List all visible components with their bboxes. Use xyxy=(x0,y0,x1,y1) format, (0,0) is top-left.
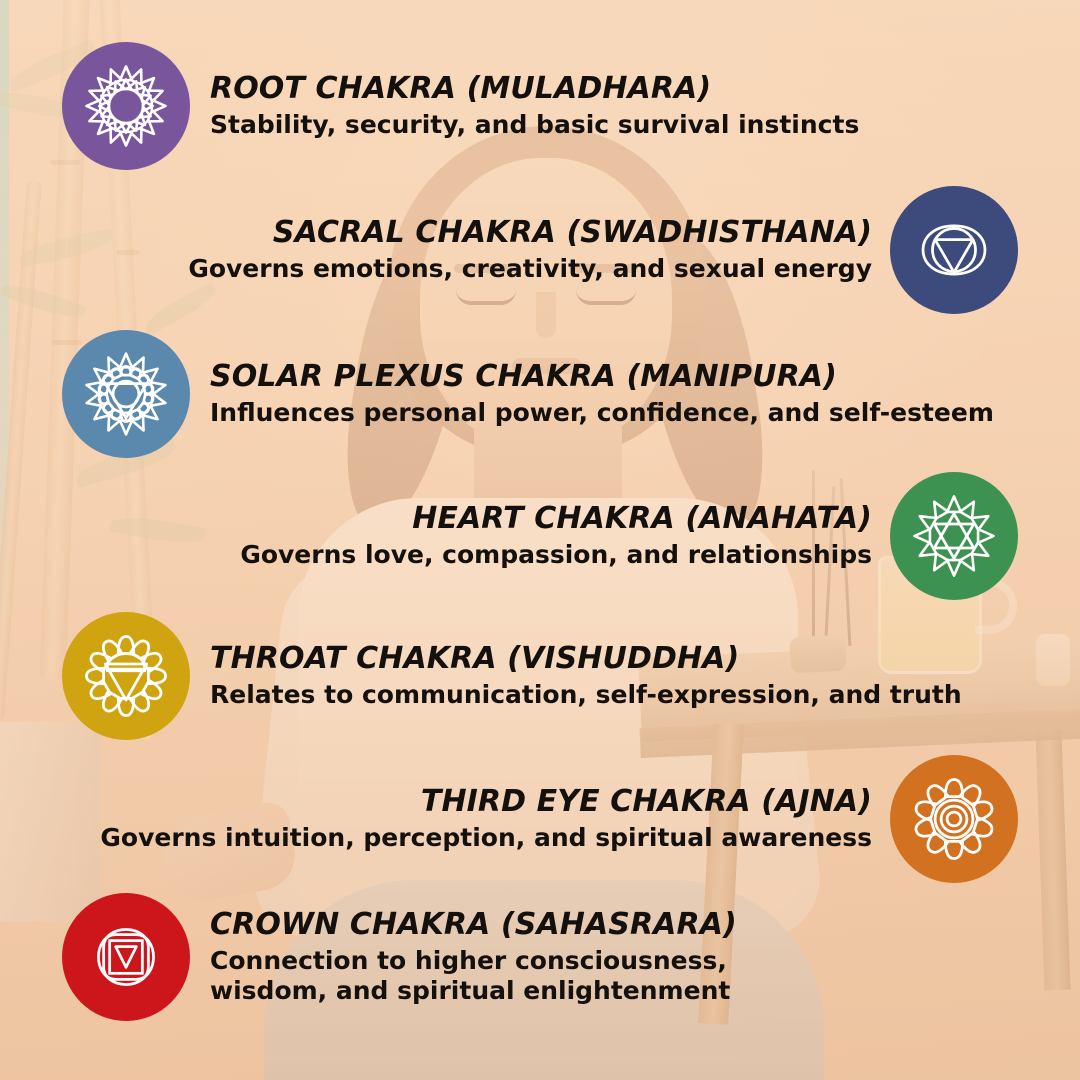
hexagram-lotus-icon xyxy=(911,493,997,579)
chakra-text-block-throat: THROAT CHAKRA (VISHUDDHA)Relates to comm… xyxy=(210,642,962,710)
chakra-title-sacral: SACRAL CHAKRA (SWADHISTHANA) xyxy=(188,216,872,250)
chakra-description-third-eye: Governs intuition, perception, and spiri… xyxy=(100,823,872,853)
chakra-description-crown: Connection to higher consciousness, wisd… xyxy=(210,946,830,1006)
chakra-row-third-eye[interactable]: THIRD EYE CHAKRA (AJNA)Governs intuition… xyxy=(100,755,1018,883)
lotus-downward-triangle-icon xyxy=(83,633,169,719)
square-triangle-lotus-icon xyxy=(83,914,169,1000)
chakra-text-block-third-eye: THIRD EYE CHAKRA (AJNA)Governs intuition… xyxy=(100,785,872,853)
chakra-description-heart: Governs love, compassion, and relationsh… xyxy=(240,540,872,570)
chakra-row-crown[interactable]: CROWN CHAKRA (SAHASRARA)Connection to hi… xyxy=(62,893,830,1021)
lotus-ring-icon xyxy=(83,63,169,149)
chakra-text-block-sacral: SACRAL CHAKRA (SWADHISTHANA)Governs emot… xyxy=(188,216,872,284)
chakra-badge-third-eye[interactable] xyxy=(890,755,1018,883)
chakra-badge-solar-plexus[interactable] xyxy=(62,330,190,458)
chakra-title-root: ROOT CHAKRA (MULADHARA) xyxy=(210,72,859,106)
chakra-title-crown: CROWN CHAKRA (SAHASRARA) xyxy=(210,908,830,942)
chakra-description-throat: Relates to communication, self-expressio… xyxy=(210,680,962,710)
chakra-row-throat[interactable]: THROAT CHAKRA (VISHUDDHA)Relates to comm… xyxy=(62,612,962,740)
two-petal-triangle-icon xyxy=(911,207,997,293)
lotus-concentric-circles-icon xyxy=(911,776,997,862)
chakra-text-block-crown: CROWN CHAKRA (SAHASRARA)Connection to hi… xyxy=(210,908,830,1006)
chakra-text-block-root: ROOT CHAKRA (MULADHARA)Stability, securi… xyxy=(210,72,859,140)
chakra-description-sacral: Governs emotions, creativity, and sexual… xyxy=(188,254,872,284)
chakra-row-root[interactable]: ROOT CHAKRA (MULADHARA)Stability, securi… xyxy=(62,42,859,170)
chakra-description-root: Stability, security, and basic survival … xyxy=(210,110,859,140)
chakra-title-solar-plexus: SOLAR PLEXUS CHAKRA (MANIPURA) xyxy=(210,360,994,394)
chakra-title-third-eye: THIRD EYE CHAKRA (AJNA) xyxy=(100,785,872,819)
chakra-badge-throat[interactable] xyxy=(62,612,190,740)
chakra-row-sacral[interactable]: SACRAL CHAKRA (SWADHISTHANA)Governs emot… xyxy=(188,186,1018,314)
chakra-row-solar-plexus[interactable]: SOLAR PLEXUS CHAKRA (MANIPURA)Influences… xyxy=(62,330,994,458)
chakra-text-block-heart: HEART CHAKRA (ANAHATA)Governs love, comp… xyxy=(240,502,872,570)
chakra-badge-heart[interactable] xyxy=(890,472,1018,600)
chakra-badge-sacral[interactable] xyxy=(890,186,1018,314)
chakra-badge-crown[interactable] xyxy=(62,893,190,1021)
chakra-row-heart[interactable]: HEART CHAKRA (ANAHATA)Governs love, comp… xyxy=(240,472,1018,600)
chakra-description-solar-plexus: Influences personal power, confidence, a… xyxy=(210,398,994,428)
lotus-triangle-circle-icon xyxy=(83,351,169,437)
chakra-list: ROOT CHAKRA (MULADHARA)Stability, securi… xyxy=(0,0,1080,1080)
chakra-title-throat: THROAT CHAKRA (VISHUDDHA) xyxy=(210,642,962,676)
chakra-badge-root[interactable] xyxy=(62,42,190,170)
chakra-text-block-solar-plexus: SOLAR PLEXUS CHAKRA (MANIPURA)Influences… xyxy=(210,360,994,428)
chakra-title-heart: HEART CHAKRA (ANAHATA) xyxy=(240,502,872,536)
